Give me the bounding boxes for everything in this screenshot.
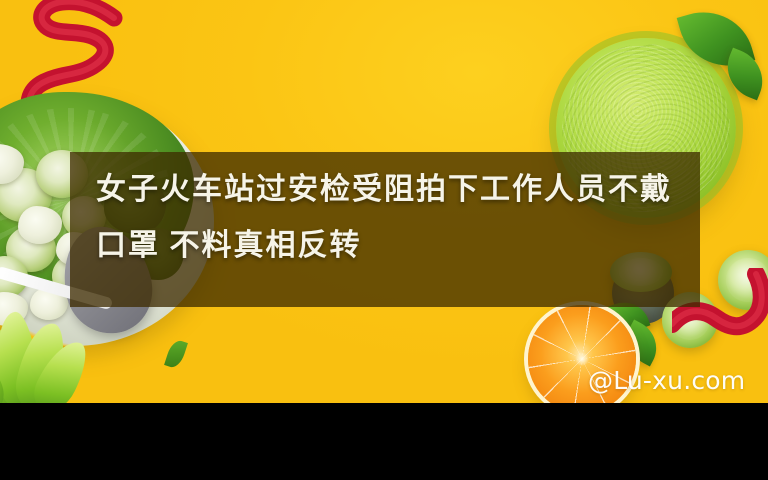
bottom-letterbox-bar (0, 403, 768, 480)
lettuce-bunch (0, 312, 120, 403)
headline-text: 女子火车站过安检受阻拍下工作人员不戴口罩 不料真相反转 (96, 162, 686, 274)
food-background-photo: 女子火车站过安检受阻拍下工作人员不戴口罩 不料真相反转 @Lu-xu.com (0, 0, 768, 403)
thumbnail-card: 女子火车站过安检受阻拍下工作人员不戴口罩 不料真相反转 @Lu-xu.com (0, 0, 768, 480)
site-watermark: @Lu-xu.com (588, 366, 745, 395)
